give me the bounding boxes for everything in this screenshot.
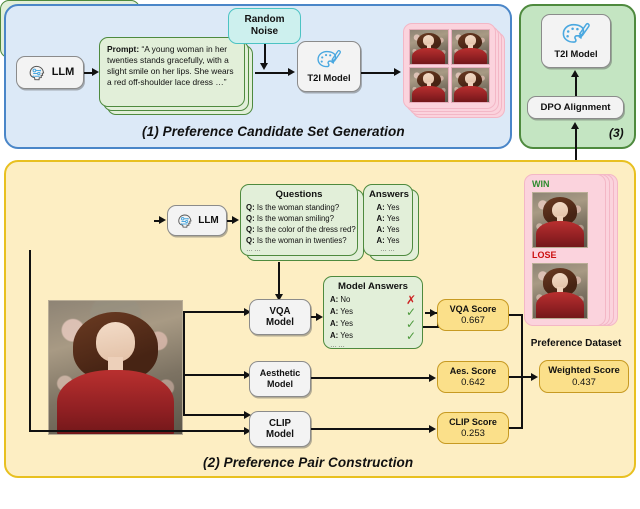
arrow-dpo-to-t2i — [575, 76, 577, 96]
llm-head-icon — [26, 62, 48, 84]
model-answer-item: A: Yes ✓ — [330, 330, 416, 342]
answer-item: A: Yes — [369, 224, 407, 235]
random-noise-box: Random Noise — [228, 8, 301, 44]
answers-stack: Answers A: Yes A: Yes A: Yes A: Yes …… — [363, 184, 423, 262]
random-noise-line1: Random — [245, 14, 285, 26]
merge-bus-v — [521, 314, 523, 429]
questions-ellipsis: …… — [246, 246, 352, 253]
clip-model-to-score-line — [311, 428, 430, 430]
vqa-model-line2: Model — [266, 317, 294, 328]
clip-score-name: CLIP Score — [449, 417, 497, 428]
vqa-model-line1: VQA — [270, 306, 291, 317]
aes-score-value: 0.642 — [461, 377, 485, 388]
questions-title: Questions — [246, 189, 352, 200]
palette-brush-icon-section1 — [316, 49, 342, 71]
section-3-number: (3) — [609, 126, 624, 140]
vqa-score-value: 0.667 — [461, 315, 485, 326]
arrow-noise-to-t2i — [264, 44, 266, 65]
image-to-vqa-line — [183, 311, 245, 313]
aes-model-to-score-head — [429, 374, 436, 382]
dpo-alignment-label: DPO Alignment — [541, 102, 611, 113]
llm-box-section2[interactable]: LLM — [167, 205, 227, 236]
answers-box: Answers A: Yes A: Yes A: Yes A: Yes …… — [363, 184, 413, 256]
candidate-set-stack — [403, 23, 507, 120]
t2i-model-label-section3: T2I Model — [554, 48, 597, 59]
question-item: Q: Is the woman smiling? — [246, 213, 352, 224]
answer-item: A: Yes — [369, 202, 407, 213]
llm-box-section1[interactable]: LLM — [16, 56, 84, 89]
answer-item: A: Yes — [369, 235, 407, 246]
lose-image — [532, 263, 588, 319]
arrow-prompt-to-t2i — [255, 72, 289, 74]
candidate-image-2 — [451, 29, 491, 65]
arrow-questions-to-vqa — [278, 262, 280, 296]
image-to-aes-line — [183, 374, 245, 376]
aes-score-name: Aes. Score — [450, 366, 497, 377]
answer-item: A: Yes — [369, 213, 407, 224]
clip-score-box: CLIP Score 0.253 — [437, 412, 509, 444]
arrow-noise-to-t2i-head — [260, 63, 268, 70]
weighted-score-box: Weighted Score 0.437 — [539, 360, 629, 393]
candidate-image-1 — [409, 29, 449, 65]
dpo-alignment-box[interactable]: DPO Alignment — [527, 96, 624, 119]
llm-label-section2: LLM — [198, 215, 219, 227]
aesthetic-model-line2: Model — [267, 379, 293, 390]
aes-score-box: Aes. Score 0.642 — [437, 361, 509, 393]
prompt-stack-section1: Prompt: “A young woman in her twenties s… — [99, 37, 255, 117]
section-2-caption: (2) Preference Pair Construction — [203, 455, 413, 470]
arrow-llm-to-prompt-head — [92, 68, 99, 76]
win-label: WIN — [532, 179, 550, 189]
answers-ellipsis: …… — [369, 246, 407, 253]
preference-dataset-stack: WIN LOSE — [524, 174, 629, 334]
questions-box: Questions Q: Is the woman standing? Q: I… — [240, 184, 358, 256]
prompt-label-section1: Prompt: — [107, 44, 139, 54]
model-answers-ellipsis: …… — [330, 342, 416, 349]
check-icon: ✓ — [406, 330, 416, 342]
vqa-model-box[interactable]: VQA Model — [249, 299, 311, 335]
arrow-prompt2-to-llm-head — [159, 216, 166, 224]
win-image — [532, 192, 588, 248]
clip-model-line1: CLIP — [269, 418, 291, 429]
answers-title: Answers — [369, 189, 407, 200]
questions-stack: Questions Q: Is the woman standing? Q: I… — [240, 184, 368, 262]
t2i-model-label-section1: T2I Model — [307, 72, 350, 83]
prompt-branch-line-h — [29, 430, 245, 432]
model-answers-title: Model Answers — [330, 281, 416, 292]
model-answer-item: A: Yes ✓ — [330, 306, 416, 318]
llm-head-icon-section2 — [175, 211, 195, 231]
llm-label: LLM — [52, 66, 75, 79]
arrow-vqa-to-model-answers-head — [316, 313, 323, 321]
arrow-dpo-to-t2i-head — [571, 70, 579, 77]
lose-label: LOSE — [532, 250, 557, 260]
model-answers-box: Model Answers A: No ✗ A: Yes ✓ A: Yes ✓ … — [323, 276, 423, 349]
prompt-box-section1: Prompt: “A young woman in her twenties s… — [99, 37, 245, 107]
image-to-clip-line — [183, 414, 245, 416]
generated-image — [48, 300, 183, 435]
question-item: Q: Is the woman standing? — [246, 202, 352, 213]
weighted-score-value: 0.437 — [572, 377, 596, 388]
prompt-branch-line — [29, 250, 31, 432]
weighted-score-name: Weighted Score — [548, 365, 620, 376]
aes-model-to-score-line — [311, 377, 430, 379]
arrow-dataset-to-dpo-head — [571, 122, 579, 129]
candidate-image-3 — [409, 67, 449, 103]
image-dress — [57, 370, 174, 435]
arrow-t2i-to-candidates — [361, 72, 395, 74]
candidate-image-4 — [451, 67, 491, 103]
clip-model-line2: Model — [266, 429, 294, 440]
question-item: Q: Is the color of the dress red? — [246, 224, 352, 235]
candidate-image-grid — [409, 29, 490, 103]
clip-model-to-score-head — [429, 425, 436, 433]
palette-brush-icon-section3 — [561, 22, 591, 47]
arrow-llm-to-questions-head — [232, 216, 239, 224]
merge-to-weighted-head — [531, 373, 538, 381]
t2i-model-box-section1[interactable]: T2I Model — [297, 41, 361, 92]
arrow-t2i-to-candidates-head — [394, 68, 401, 76]
aesthetic-model-line1: Aesthetic — [260, 368, 301, 379]
model-answer-item: A: Yes ✓ — [330, 318, 416, 330]
t2i-model-box-section3[interactable]: T2I Model — [541, 14, 611, 68]
clip-model-box[interactable]: CLIP Model — [249, 411, 311, 447]
model-answer-item: A: No ✗ — [330, 294, 416, 306]
random-noise-line2: Noise — [251, 26, 278, 38]
merge-to-weighted-h — [509, 376, 533, 378]
clip-score-value: 0.253 — [461, 428, 485, 439]
image-bus-vertical — [183, 311, 185, 415]
vqa-score-name: VQA Score — [450, 304, 497, 315]
model-answers-to-vqascore-head — [430, 309, 437, 317]
preference-dataset-label: Preference Dataset — [520, 338, 632, 349]
section-1-caption: (1) Preference Candidate Set Generation — [142, 124, 405, 139]
vqa-score-box: VQA Score 0.667 — [437, 299, 509, 331]
aesthetic-model-box[interactable]: Aesthetic Model — [249, 361, 311, 397]
question-item: Q: Is the woman in twenties? — [246, 235, 352, 246]
arrow-prompt-to-t2i-head — [288, 68, 295, 76]
